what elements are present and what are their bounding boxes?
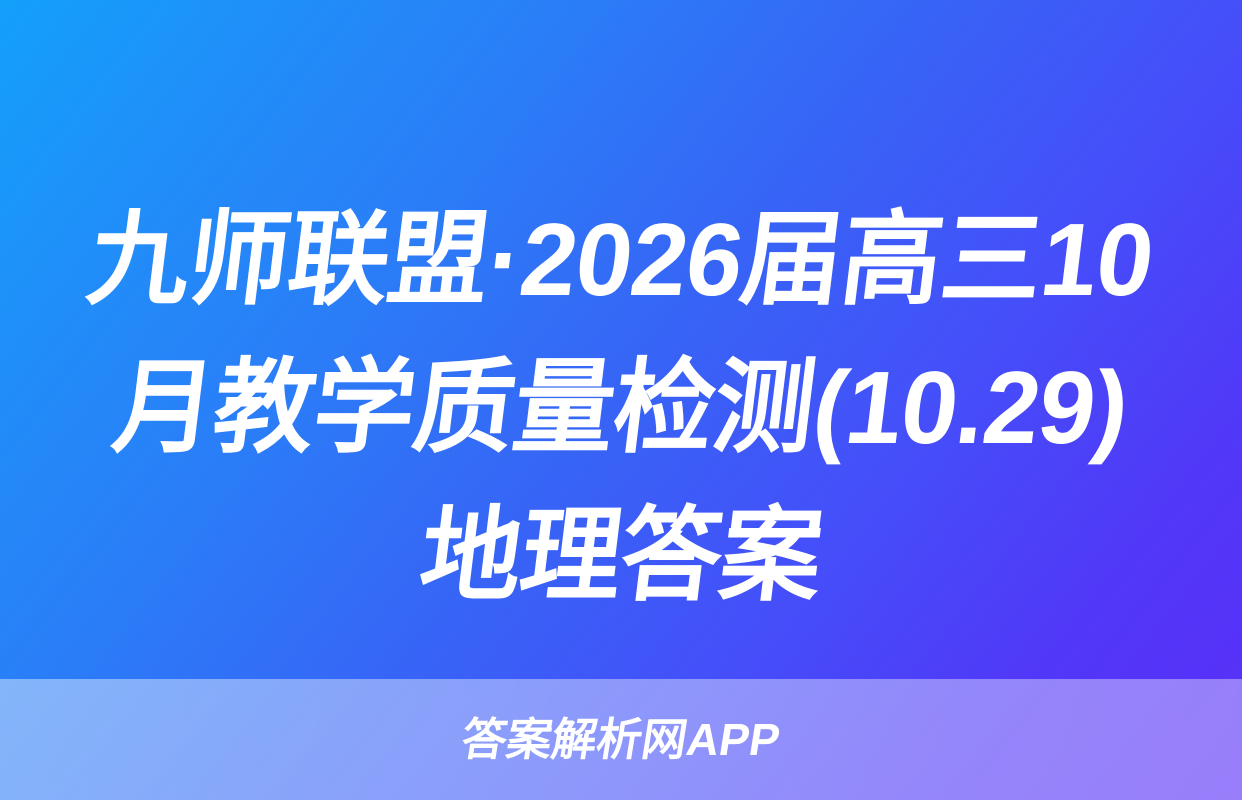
title-line-3: 地理答案 <box>412 482 830 630</box>
title-line-2: 月教学质量检测(10.29) <box>106 334 1137 482</box>
title-line-1: 九师联盟·2026届高三10 <box>80 186 1161 334</box>
poster-container: 九师联盟·2026届高三10 月教学质量检测(10.29) 地理答案 答案解析网… <box>0 0 1242 800</box>
footer-band: 答案解析网APP <box>0 679 1242 800</box>
title-block: 九师联盟·2026届高三10 月教学质量检测(10.29) 地理答案 <box>0 186 1242 616</box>
footer-app-label: 答案解析网APP <box>458 714 784 766</box>
